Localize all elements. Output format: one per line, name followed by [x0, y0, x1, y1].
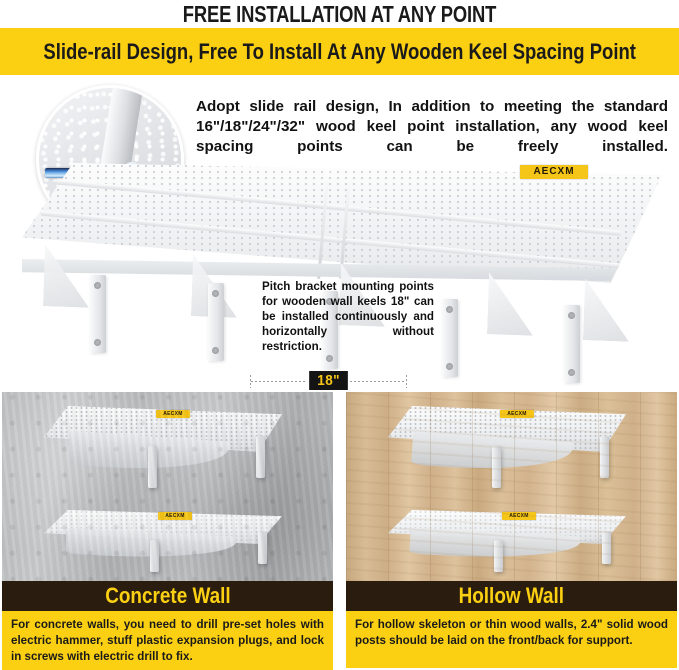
brand-badge: AECXM	[520, 165, 588, 179]
shelf-curved-brace	[411, 430, 573, 475]
panel-description: For hollow skeleton or thin wood walls, …	[355, 617, 668, 649]
shelf-perforations	[388, 510, 626, 544]
mounting-bracket	[602, 532, 611, 564]
shelf-surface	[388, 510, 626, 544]
hero-product-illustration: Adopt slide rail design, In addition to …	[0, 75, 679, 390]
panel-concrete-wall: AECXM AECXM Concrete Wall For concrete w…	[2, 392, 333, 670]
mounting-bracket	[256, 436, 265, 478]
shelf-gusset	[487, 272, 535, 336]
shelf-curved-brace	[67, 430, 229, 475]
shelf-surface	[44, 510, 282, 544]
mounting-bracket	[90, 275, 106, 353]
panel-title: Hollow Wall	[459, 583, 564, 609]
shelf-gusset	[43, 244, 91, 308]
shelf-photo-lower: AECXM	[388, 510, 626, 576]
mounting-bracket	[442, 299, 458, 377]
shelf-perforations	[388, 406, 626, 452]
dimension-dash-left	[251, 381, 307, 382]
mounting-bracket	[148, 446, 157, 488]
shelf-perforations	[44, 406, 282, 452]
hollow-wall-photo: AECXM AECXM	[346, 392, 677, 581]
dimension-line: 18"	[250, 371, 440, 390]
shelf-perforations	[44, 510, 282, 544]
mounting-bracket	[150, 540, 159, 572]
shelf-photo-upper: AECXM	[388, 406, 626, 484]
dimension-dash-right	[350, 381, 406, 382]
panel-title: Concrete Wall	[105, 583, 230, 609]
panel-body-concrete: For concrete walls, you need to drill pr…	[2, 611, 333, 670]
dimension-tick-right	[406, 375, 407, 388]
concrete-wall-photo: AECXM AECXM	[2, 392, 333, 581]
mounting-bracket	[258, 532, 267, 564]
panel-title-bar-hollow: Hollow Wall	[346, 581, 677, 611]
hero-description: Adopt slide rail design, In addition to …	[196, 97, 668, 156]
shelf-curved-brace	[65, 528, 236, 563]
brand-badge: AECXM	[156, 410, 190, 418]
infographic-page: FREE INSTALLATION AT ANY POINT Slide-rai…	[0, 0, 679, 670]
panel-title-bar-concrete: Concrete Wall	[2, 581, 333, 611]
mounting-bracket	[208, 283, 224, 361]
mounting-bracket	[494, 540, 503, 572]
subtitle-banner: Slide-rail Design, Free To Install At An…	[0, 28, 679, 75]
brand-badge: AECXM	[500, 410, 534, 418]
shelf-surface	[388, 406, 626, 452]
panel-hollow-wall: AECXM AECXM Hollow Wall For hollow skele…	[346, 392, 677, 668]
mounting-bracket	[600, 436, 609, 478]
brand-badge: AECXM	[158, 512, 192, 520]
subtitle-text: Slide-rail Design, Free To Install At An…	[43, 39, 635, 65]
shelf-surface	[44, 406, 282, 452]
shelf-gusset	[583, 278, 631, 342]
dimension-value-badge: 18"	[309, 371, 348, 390]
panel-body-hollow: For hollow skeleton or thin wood walls, …	[346, 611, 677, 668]
mounting-bracket	[564, 305, 580, 383]
page-title: FREE INSTALLATION AT ANY POINT	[68, 0, 611, 28]
shelf-photo-lower: AECXM	[44, 510, 282, 576]
brand-badge: AECXM	[502, 512, 536, 520]
shelf-photo-upper: AECXM	[44, 406, 282, 484]
panel-description: For concrete walls, you need to drill pr…	[11, 617, 324, 665]
mounting-bracket	[492, 446, 501, 488]
pitch-bracket-callout: Pitch bracket mounting points for wooden…	[262, 279, 434, 354]
shelf-curved-brace	[409, 528, 580, 563]
